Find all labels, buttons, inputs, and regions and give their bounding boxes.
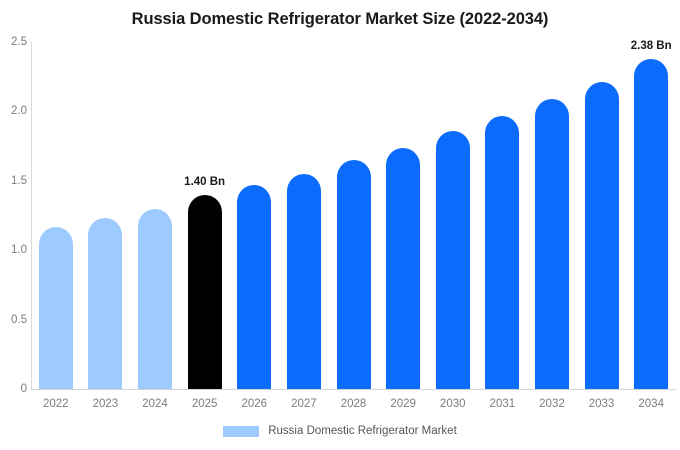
bar-2034[interactable] [634, 59, 668, 389]
bar-2025[interactable] [188, 195, 222, 389]
bar-value-label-2025: 1.40 Bn [184, 176, 225, 188]
bar-2028[interactable] [337, 160, 371, 389]
bar-slot [237, 42, 271, 389]
bar-2026[interactable] [237, 185, 271, 389]
bar-slot [88, 42, 122, 389]
x-axis-tick-label: 2026 [241, 398, 267, 410]
y-axis-tick-label: 0.5 [1, 314, 27, 326]
bar-slot [138, 42, 172, 389]
bar-slot [634, 42, 668, 389]
y-axis-tick-label: 2.0 [1, 105, 27, 117]
x-axis-tick-label: 2025 [192, 398, 218, 410]
x-axis-tick-label: 2030 [440, 398, 466, 410]
bar-slot [535, 42, 569, 389]
x-axis-tick-label: 2031 [490, 398, 516, 410]
y-axis-tick-label: 0 [1, 383, 27, 395]
bar-2022[interactable] [39, 227, 73, 389]
plot-area [31, 42, 676, 389]
bar-2024[interactable] [138, 209, 172, 389]
bar-value-label-2034: 2.38 Bn [631, 40, 672, 52]
x-axis-tick-label: 2032 [539, 398, 565, 410]
bar-2033[interactable] [585, 82, 619, 389]
bar-slot [287, 42, 321, 389]
x-axis-tick-label: 2024 [142, 398, 168, 410]
y-axis-tick-label: 2.5 [1, 36, 27, 48]
legend-label: Russia Domestic Refrigerator Market [268, 425, 457, 437]
bar-2030[interactable] [436, 131, 470, 389]
x-axis-tick-label: 2033 [589, 398, 615, 410]
x-axis-tick-label: 2029 [390, 398, 416, 410]
bar-2029[interactable] [386, 148, 420, 390]
bar-slot [585, 42, 619, 389]
x-axis-line [31, 389, 676, 390]
y-axis: 00.51.01.52.02.5 [0, 0, 27, 450]
y-axis-tick-label: 1.5 [1, 175, 27, 187]
legend-swatch [223, 426, 259, 437]
bar-slot [337, 42, 371, 389]
x-axis-tick-label: 2023 [93, 398, 119, 410]
bar-slot [386, 42, 420, 389]
bar-slot [188, 42, 222, 389]
chart-title: Russia Domestic Refrigerator Market Size… [0, 10, 680, 29]
bar-2031[interactable] [485, 116, 519, 389]
x-axis-tick-label: 2027 [291, 398, 317, 410]
chart-legend: Russia Domestic Refrigerator Market [0, 425, 680, 437]
bar-2032[interactable] [535, 99, 569, 389]
bar-2027[interactable] [287, 174, 321, 389]
bar-slot [436, 42, 470, 389]
x-axis-tick-label: 2022 [43, 398, 69, 410]
bar-chart: Russia Domestic Refrigerator Market Size… [0, 0, 680, 450]
x-axis-tick-label: 2034 [638, 398, 664, 410]
bar-2023[interactable] [88, 218, 122, 389]
bar-slot [39, 42, 73, 389]
y-axis-tick-label: 1.0 [1, 244, 27, 256]
bar-slot [485, 42, 519, 389]
x-axis-tick-label: 2028 [341, 398, 367, 410]
legend-item[interactable]: Russia Domestic Refrigerator Market [223, 425, 457, 437]
